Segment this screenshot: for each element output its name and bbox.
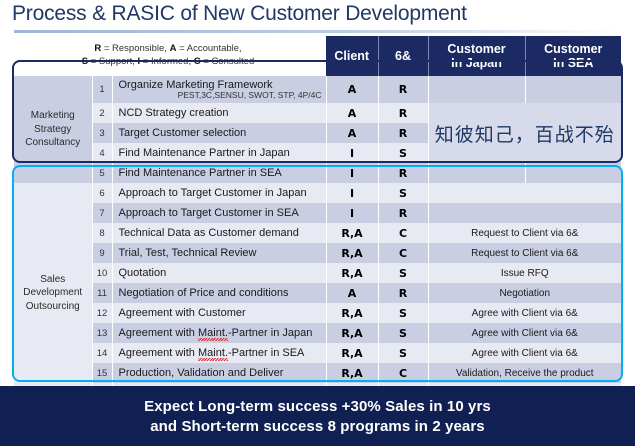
row-number: 8 (92, 223, 112, 243)
legend-s-text: = Support, (88, 56, 137, 67)
table-row: 7 Approach to Target Customer in SEA I R (14, 203, 621, 223)
task-cell: Trial, Test, Technical Review (112, 243, 326, 263)
section-label-line2: Development (23, 287, 82, 298)
task-cell: Approach to Target Customer in SEA (112, 203, 326, 223)
task-cell: Find Maintenance Partner in SEA (112, 163, 326, 183)
task-prefix: Agreement with (119, 327, 198, 339)
column-header-6and: 6& (378, 36, 428, 76)
row-number: 7 (92, 203, 112, 223)
customer-note (428, 203, 621, 223)
client-value: R,A (326, 363, 378, 383)
rasic-table: R = Responsible, A = Accountable, S = Su… (14, 36, 621, 403)
customer-note: Validation, Receive the product (428, 363, 621, 383)
task-suffix: -Partner in SEA (228, 347, 304, 359)
table-row: Sales Development Outsourcing 6 Approach… (14, 183, 621, 203)
task-subtext: PEST,3C,SENSU, SWOT, STP, 4P/4C (119, 90, 326, 100)
section-label-line1: Sales (40, 274, 65, 285)
section-label-line3: Outsourcing (26, 301, 80, 312)
customer-note: Agree with Client via 6& (428, 323, 621, 343)
task-cell: Target Customer selection (112, 123, 326, 143)
task-cell: NCD Strategy creation (112, 103, 326, 123)
column-header-client: Client (326, 36, 378, 76)
row-number: 3 (92, 123, 112, 143)
client-value: I (326, 143, 378, 163)
client-value: A (326, 123, 378, 143)
table-header: R = Responsible, A = Accountable, S = Su… (14, 36, 621, 76)
sixand-value: R (378, 76, 428, 103)
customer-note: Negotiation (428, 283, 621, 303)
table-row: 12 Agreement with Customer R,A S Agree w… (14, 303, 621, 323)
table-row: 5 Find Maintenance Partner in SEA I R (14, 163, 621, 183)
row-number: 4 (92, 143, 112, 163)
client-value: A (326, 103, 378, 123)
customer-japan-value (428, 76, 525, 103)
client-value: I (326, 203, 378, 223)
column-header-customer-japan: Customer In Japan (428, 36, 525, 76)
customer-note (428, 183, 621, 203)
task-cell: Production, Validation and Deliver (112, 363, 326, 383)
client-value: A (326, 283, 378, 303)
task-cell: Quotation (112, 263, 326, 283)
legend-cell: R = Responsible, A = Accountable, S = Su… (14, 36, 326, 76)
section-label-line2: Strategy (34, 124, 71, 135)
table-row: 9 Trial, Test, Technical Review R,A C Re… (14, 243, 621, 263)
sixand-value: R (378, 103, 428, 123)
slide-root: Process & RASIC of New Customer Developm… (0, 0, 635, 446)
row-number: 6 (92, 183, 112, 203)
sixand-value: R (378, 163, 428, 183)
task-cell: Agreement with Maint.-Partner in SEA (112, 343, 326, 363)
legend-c-text: = Consulted (201, 56, 255, 67)
bottom-banner: Expect Long-term success +30% Sales in 1… (0, 386, 635, 446)
page-title: Process & RASIC of New Customer Developm… (12, 2, 622, 26)
sixand-value: S (378, 183, 428, 203)
task-cell: Negotiation of Price and conditions (112, 283, 326, 303)
task-misspelled-word: Maint. (198, 347, 228, 360)
column-header-customer-sea: Customer In SEA (525, 36, 621, 76)
customer-japan-value (428, 163, 525, 183)
table-row: 14 Agreement with Maint.-Partner in SEA … (14, 343, 621, 363)
task-cell: Approach to Target Customer in Japan (112, 183, 326, 203)
customer-japan-line1: Customer (447, 42, 505, 56)
row-number: 13 (92, 323, 112, 343)
row-number: 11 (92, 283, 112, 303)
sixand-value: C (378, 243, 428, 263)
banner-line-2: and Short-term success 8 programs in 2 y… (150, 418, 485, 435)
table-row: 10 Quotation R,A S Issue RFQ (14, 263, 621, 283)
table-row: 11 Negotiation of Price and conditions A… (14, 283, 621, 303)
task-cell: Agreement with Maint.-Partner in Japan (112, 323, 326, 343)
row-number: 2 (92, 103, 112, 123)
task-misspelled-word: Maint. (198, 327, 228, 340)
customer-sea-line1: Customer (544, 42, 602, 56)
sixand-value: R (378, 203, 428, 223)
section-label-sales: Sales Development Outsourcing (14, 183, 92, 403)
row-number: 10 (92, 263, 112, 283)
table-row: Marketing Strategy Consultancy 1 Organiz… (14, 76, 621, 103)
section-label-line3: Consultancy (25, 137, 80, 148)
customer-sea-value (525, 76, 621, 103)
table-row: 2 NCD Strategy creation A R 知彼知己，百战不殆 (14, 103, 621, 123)
customer-japan-line2: In Japan (451, 56, 502, 70)
client-value: A (326, 76, 378, 103)
client-value: R,A (326, 263, 378, 283)
client-value: R,A (326, 343, 378, 363)
row-number: 14 (92, 343, 112, 363)
sixand-value: C (378, 363, 428, 383)
header-row: R = Responsible, A = Accountable, S = Su… (14, 36, 621, 76)
sixand-value: S (378, 143, 428, 163)
row-number: 1 (92, 76, 112, 103)
merged-chinese-note: 知彼知己，百战不殆 (428, 103, 621, 163)
row-number: 12 (92, 303, 112, 323)
client-value: I (326, 163, 378, 183)
customer-note: Issue RFQ (428, 263, 621, 283)
client-value: I (326, 183, 378, 203)
section-label-line1: Marketing (31, 110, 75, 121)
task-cell: Agreement with Customer (112, 303, 326, 323)
customer-note: Agree with Client via 6& (428, 303, 621, 323)
title-divider (14, 30, 620, 33)
task-cell: Find Maintenance Partner in Japan (112, 143, 326, 163)
sixand-value: S (378, 263, 428, 283)
client-value: R,A (326, 323, 378, 343)
client-value: R,A (326, 223, 378, 243)
row-number: 15 (92, 363, 112, 383)
customer-note: Request to Client via 6& (428, 243, 621, 263)
legend-i-text: = Informed, (140, 56, 194, 67)
customer-sea-line2: In SEA (553, 56, 593, 70)
task-cell: Technical Data as Customer demand (112, 223, 326, 243)
legend-c: C (194, 56, 201, 67)
task-suffix: -Partner in Japan (228, 327, 312, 339)
table-row: 15 Production, Validation and Deliver R,… (14, 363, 621, 383)
table-body: Marketing Strategy Consultancy 1 Organiz… (14, 76, 621, 403)
task-prefix: Agreement with (119, 347, 198, 359)
legend-a-text: = Accountable, (176, 43, 241, 54)
sixand-value: S (378, 323, 428, 343)
sixand-value: S (378, 343, 428, 363)
banner-line-1: Expect Long-term success +30% Sales in 1… (144, 398, 491, 415)
legend-r-text: = Responsible, (101, 43, 169, 54)
customer-sea-value (525, 163, 621, 183)
customer-note: Agree with Client via 6& (428, 343, 621, 363)
section-label-marketing: Marketing Strategy Consultancy (14, 76, 92, 183)
table-row: 8 Technical Data as Customer demand R,A … (14, 223, 621, 243)
client-value: R,A (326, 303, 378, 323)
client-value: R,A (326, 243, 378, 263)
sixand-value: S (378, 303, 428, 323)
sixand-value: C (378, 223, 428, 243)
row-number: 9 (92, 243, 112, 263)
sixand-value: R (378, 283, 428, 303)
task-cell: Organize Marketing Framework PEST,3C,SEN… (112, 76, 326, 103)
customer-note: Request to Client via 6& (428, 223, 621, 243)
sixand-value: R (378, 123, 428, 143)
row-number: 5 (92, 163, 112, 183)
table-row: 13 Agreement with Maint.-Partner in Japa… (14, 323, 621, 343)
